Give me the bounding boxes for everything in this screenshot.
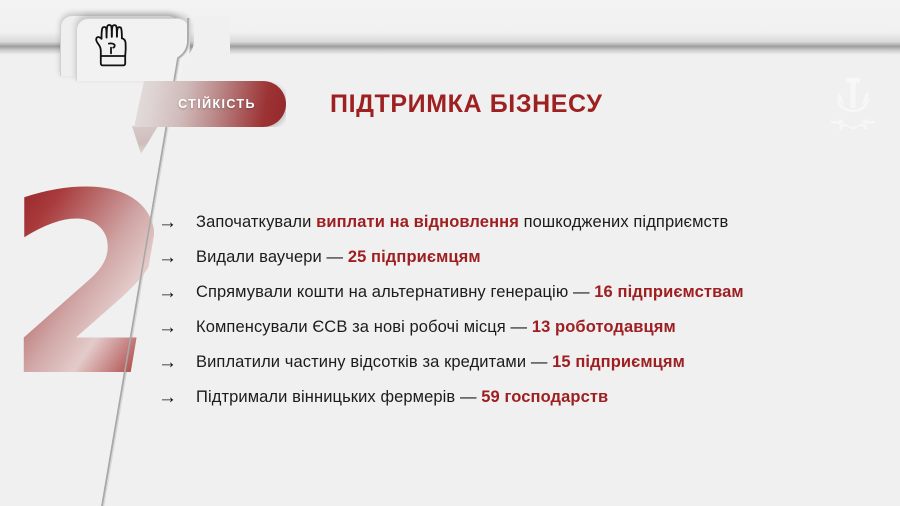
list-item: →Спрямували кошти на альтернативну генер… (158, 275, 888, 310)
page-title: ПІДТРИМКА БІЗНЕСУ (330, 90, 603, 119)
arrow-right-icon: → (158, 213, 196, 232)
highlighted-figure: 13 роботодавцям (532, 318, 676, 336)
list-item: →Виплатили частину відсотків за кредитам… (158, 345, 888, 380)
raised-fist-icon (92, 22, 134, 68)
highlighted-figure: 25 підприємцям (348, 248, 481, 266)
list-item: →Видали ваучери — 25 підприємцям (158, 240, 888, 275)
presentation-slide: 2 СТІЙКІСТЬ ПІДТРИМКА БІЗНЕСУ →Започатку… (0, 0, 900, 506)
list-item-text: Виплатили частину відсотків за кредитами… (196, 353, 685, 372)
arrow-right-icon: → (158, 248, 196, 267)
list-item-text: Започаткували виплати на відновлення пош… (196, 213, 728, 232)
list-item-text: Видали ваучери — 25 підприємцям (196, 248, 481, 267)
vinnytsia-anchor-emblem-icon (817, 74, 889, 146)
list-item-text: Компенсували ЄСВ за нові робочі місця — … (196, 318, 676, 337)
badge-label: СТІЙКІСТЬ (134, 81, 286, 127)
highlighted-figure: виплати на відновлення (316, 213, 519, 231)
plain-text: Підтримали вінницьких фермерів — (196, 388, 481, 406)
plain-text: Компенсували ЄСВ за нові робочі місця — (196, 318, 532, 336)
plain-text: Виплатили частину відсотків за кредитами… (196, 353, 552, 371)
highlighted-figure: 16 підприємствам (594, 283, 743, 301)
plain-text: Видали ваучери — (196, 248, 348, 266)
arrow-right-icon: → (158, 353, 196, 372)
highlighted-figure: 59 господарств (481, 388, 608, 406)
list-item: →Започаткували виплати на відновлення по… (158, 205, 888, 240)
plain-text: Започаткували (196, 213, 316, 231)
list-item-text: Спрямували кошти на альтернативну генера… (196, 283, 744, 302)
list-item: →Підтримали вінницьких фермерів — 59 гос… (158, 380, 888, 415)
highlighted-figure: 15 підприємцям (552, 353, 685, 371)
bullet-list: →Започаткували виплати на відновлення по… (158, 205, 888, 415)
plain-text: пошкоджених підприємств (519, 213, 728, 231)
plain-text: Спрямували кошти на альтернативну генера… (196, 283, 594, 301)
list-item-text: Підтримали вінницьких фермерів — 59 госп… (196, 388, 608, 407)
arrow-right-icon: → (158, 283, 196, 302)
section-number: 2 (4, 178, 154, 393)
list-item: →Компенсували ЄСВ за нові робочі місця —… (158, 310, 888, 345)
status-badge: СТІЙКІСТЬ (134, 81, 286, 127)
arrow-right-icon: → (158, 388, 196, 407)
arrow-right-icon: → (158, 318, 196, 337)
